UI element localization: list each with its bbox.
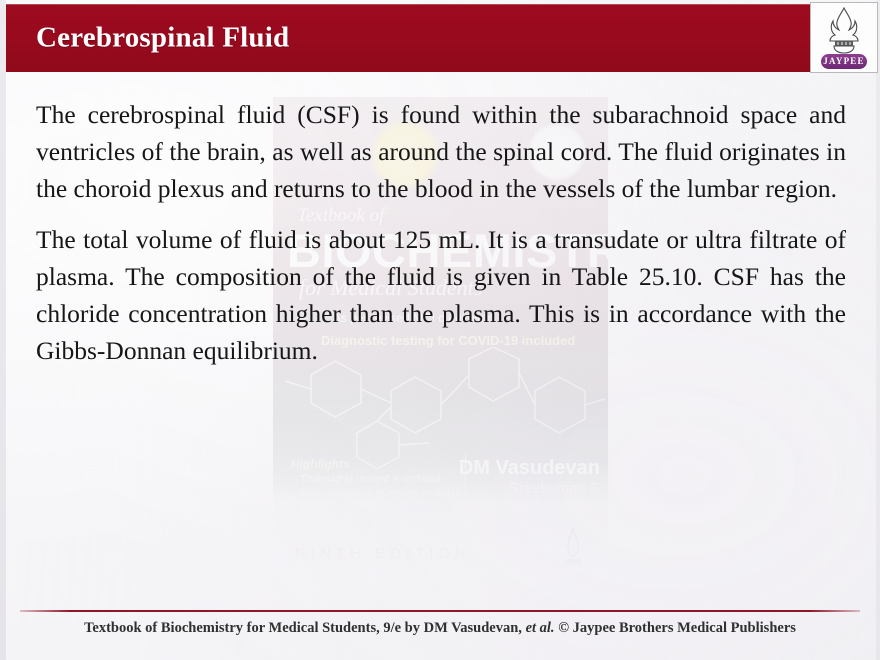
watermark-author-primary: DM Vasudevan (459, 457, 600, 480)
body-paragraph-1: The cerebrospinal fluid (CSF) is found w… (36, 96, 846, 207)
slide-left-edge (0, 0, 6, 660)
body-paragraph-2: The total volume of fluid is about 125 m… (36, 221, 846, 369)
watermark-vertical-divider (465, 453, 466, 517)
slide-header-bar: Cerebrospinal Fluid (6, 4, 810, 72)
slide: Textbook of BIOCHEMISTRY for Medical Stu… (0, 0, 880, 660)
watermark-publisher-logo-icon (556, 527, 590, 571)
highlight-item: New MCQs and Case studies (291, 527, 489, 541)
footer-part-1: Textbook of Biochemistry for Medical Stu… (84, 620, 522, 636)
publisher-logo-box: JAYPEE (810, 2, 878, 73)
watermark-author-secondary: Sreekumari S (509, 480, 600, 497)
footer-et-al: et al. (526, 620, 555, 636)
watermark-edition-label: NINTH EDITION (295, 545, 471, 562)
footer-part-2: © Jaypee Brothers Medical Publishers (558, 620, 796, 636)
footer-divider (20, 610, 860, 612)
footer-attribution: Textbook of Biochemistry for Medical Stu… (0, 620, 880, 637)
watermark-highlights-list: Thoroughly revised & updated Key concept… (291, 473, 489, 541)
page-title: Cerebrospinal Fluid (36, 22, 289, 55)
highlight-item: Updated Long & Short Qs and Essay Qs (291, 514, 489, 528)
jaypee-flame-icon (822, 7, 866, 55)
slide-body: The cerebrospinal fluid (CSF) is found w… (36, 96, 846, 369)
slide-right-edge (876, 0, 880, 660)
watermark-highlights-title: Highlights (291, 457, 350, 471)
highlight-item: Richly illustrated (291, 500, 489, 514)
highlight-item: Thoroughly revised & updated (291, 473, 489, 487)
jaypee-badge: JAYPEE (821, 54, 867, 69)
watermark-author-tertiary: Kannan Vaidyanathan (453, 498, 600, 515)
highlight-item: Key concepts & summary included (291, 487, 489, 501)
